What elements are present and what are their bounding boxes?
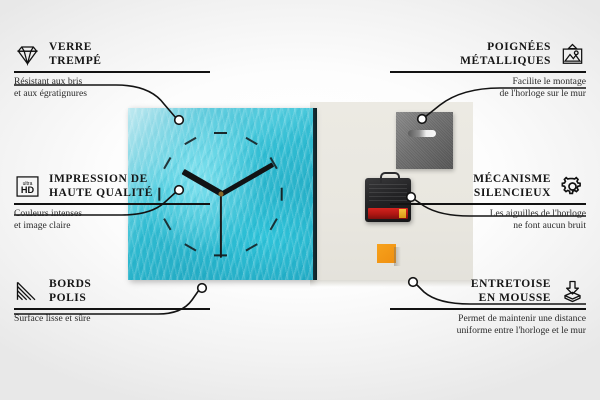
clock-tick bbox=[280, 187, 282, 200]
feature-description: Les aiguilles de l'horlogene font aucun … bbox=[390, 208, 586, 233]
clock-tick bbox=[245, 137, 257, 146]
hanger-slot bbox=[408, 130, 436, 137]
picture-frame-icon bbox=[559, 42, 586, 67]
gear-icon bbox=[559, 174, 586, 199]
feature-mecanisme-silencieux[interactable]: MÉCANISMESILENCIEUX Les aiguilles de l'h… bbox=[390, 172, 586, 232]
clock-tick bbox=[184, 243, 196, 252]
feature-title: POIGNÉESMÉTALLIQUES bbox=[460, 40, 551, 68]
divider bbox=[14, 203, 210, 205]
foam-spacer-icon bbox=[559, 279, 586, 304]
feature-poignees-metalliques[interactable]: POIGNÉESMÉTALLIQUES Facilite le montaged… bbox=[390, 40, 586, 100]
feature-description: Couleurs intenseset image claire bbox=[14, 208, 210, 233]
clock-tick bbox=[214, 132, 227, 134]
clock-tick bbox=[163, 157, 172, 169]
clock-tick bbox=[245, 243, 257, 252]
feature-title: IMPRESSION DEHAUTE QUALITÉ bbox=[49, 172, 153, 200]
clock-second-hand bbox=[220, 194, 222, 258]
feature-bords-polis[interactable]: BORDSPOLIS Surface lisse et sûre bbox=[14, 277, 210, 325]
feature-impression-haute-qualite[interactable]: ultra HD IMPRESSION DEHAUTE QUALITÉ Coul… bbox=[14, 172, 210, 232]
divider bbox=[390, 308, 586, 310]
ultra-hd-icon: ultra HD bbox=[14, 174, 41, 199]
clock-tick bbox=[269, 218, 278, 230]
feature-entretoise-en-mousse[interactable]: ENTRETOISEEN MOUSSE Permet de maintenir … bbox=[390, 277, 586, 337]
clock-minute-hand bbox=[219, 162, 273, 196]
foam-spacer-accessory bbox=[377, 244, 396, 263]
feature-description: Résistant aux briset aux égratignures bbox=[14, 76, 210, 101]
diamond-icon bbox=[14, 42, 41, 67]
divider bbox=[14, 71, 210, 73]
divider bbox=[14, 308, 210, 310]
divider bbox=[390, 71, 586, 73]
feature-verre-trempe[interactable]: VERRETREMPÉ Résistant aux briset aux égr… bbox=[14, 40, 210, 100]
divider bbox=[390, 203, 586, 205]
feature-title: ENTRETOISEEN MOUSSE bbox=[471, 277, 551, 305]
feature-title: VERRETREMPÉ bbox=[49, 40, 102, 68]
polished-edge-icon bbox=[14, 279, 41, 304]
infographic-canvas: VERRETREMPÉ Résistant aux briset aux égr… bbox=[0, 0, 600, 400]
feature-description: Surface lisse et sûre bbox=[14, 313, 210, 325]
clock-tick bbox=[184, 137, 196, 146]
feature-title: MÉCANISMESILENCIEUX bbox=[473, 172, 551, 200]
metal-hanger-accessory bbox=[396, 112, 453, 169]
feature-title: BORDSPOLIS bbox=[49, 277, 91, 305]
clock-center-hub bbox=[218, 192, 223, 197]
feature-description: Permet de maintenir une distanceuniforme… bbox=[390, 313, 586, 338]
feature-description: Facilite le montagede l'horloge sur le m… bbox=[390, 76, 586, 101]
svg-text:HD: HD bbox=[21, 185, 35, 195]
